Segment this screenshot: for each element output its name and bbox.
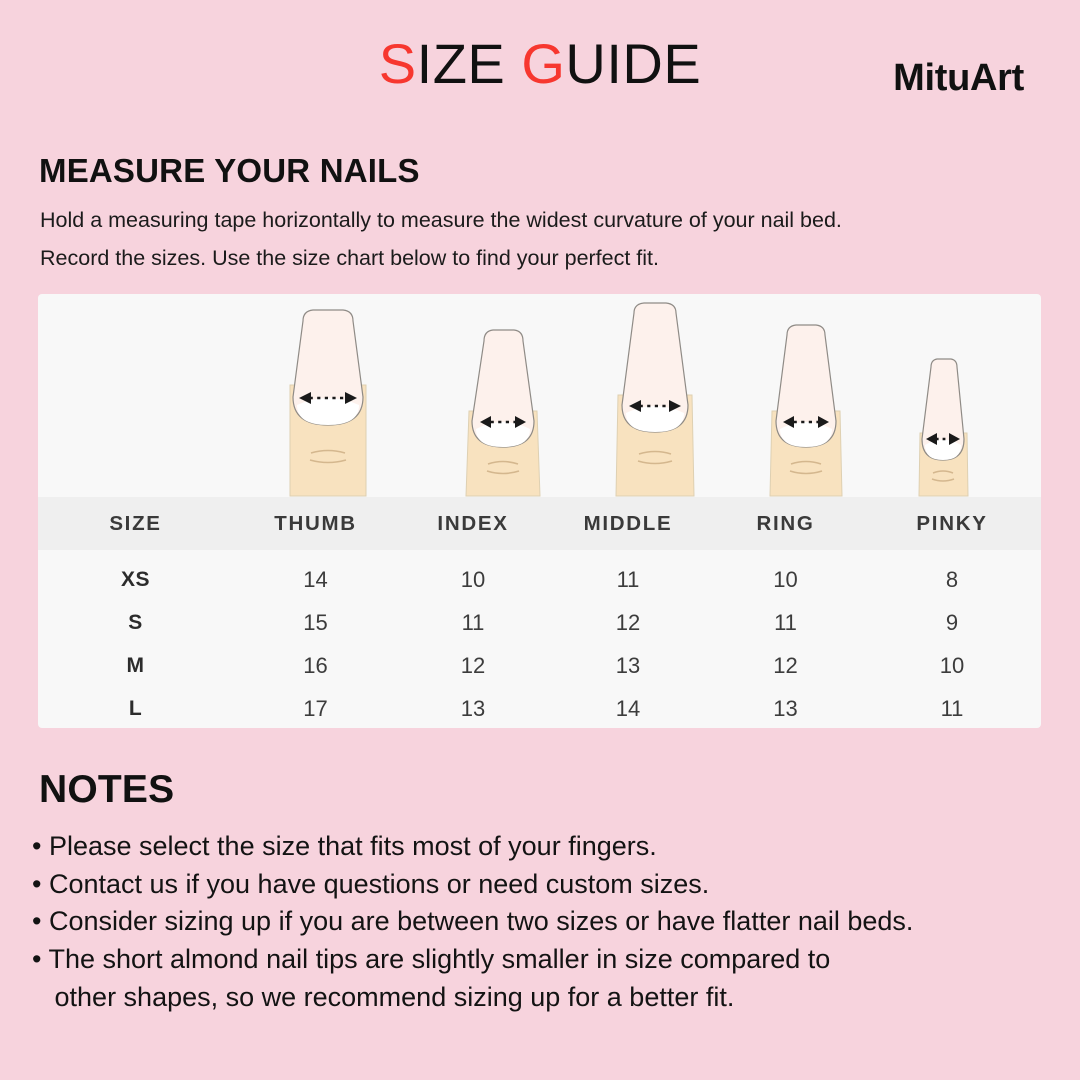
- instruction-line-1: Hold a measuring tape horizontally to me…: [40, 206, 1050, 234]
- cell-middle: 14: [548, 696, 708, 722]
- middle-finger-illustration: [585, 301, 725, 497]
- cell-ring: 13: [708, 696, 863, 722]
- cell-pinky: 9: [863, 610, 1041, 636]
- column-header-size: SIZE: [38, 512, 233, 536]
- title-text-uide: UIDE: [565, 32, 701, 95]
- cell-middle: 12: [548, 610, 708, 636]
- cell-index: 13: [398, 696, 548, 722]
- ring-finger-illustration: [741, 313, 871, 497]
- size-table-body: XS 14 10 11 10 8 S 15 11 12 11 9 M 16 12…: [38, 558, 1041, 728]
- measure-section-heading: MEASURE YOUR NAILS: [39, 152, 420, 190]
- title-accent-g: G: [521, 32, 565, 95]
- cell-pinky: 10: [863, 653, 1041, 679]
- cell-index: 12: [398, 653, 548, 679]
- column-header-index: INDEX: [398, 512, 548, 536]
- size-chart-panel: SIZE THUMB INDEX MIDDLE RING PINKY XS 14…: [38, 294, 1041, 728]
- list-item: • Please select the size that fits most …: [32, 828, 1062, 866]
- page-header: SIZE GUIDE MituArt: [0, 0, 1080, 125]
- column-header-pinky: PINKY: [863, 512, 1041, 536]
- table-row: XS 14 10 11 10 8: [38, 558, 1041, 601]
- cell-thumb: 17: [233, 696, 398, 722]
- thumb-finger-illustration: [253, 301, 403, 497]
- cell-thumb: 14: [233, 567, 398, 593]
- cell-middle: 11: [548, 567, 708, 593]
- instruction-line-2: Record the sizes. Use the size chart bel…: [40, 244, 1050, 272]
- list-item: • The short almond nail tips are slightl…: [32, 941, 1062, 1016]
- column-header-thumb: THUMB: [233, 512, 398, 536]
- cell-index: 10: [398, 567, 548, 593]
- index-finger-illustration: [438, 315, 568, 497]
- notes-section-heading: NOTES: [39, 768, 174, 812]
- table-row: M 16 12 13 12 10: [38, 644, 1041, 687]
- cell-index: 11: [398, 610, 548, 636]
- list-item: • Contact us if you have questions or ne…: [32, 866, 1062, 904]
- column-header-ring: RING: [708, 512, 863, 536]
- table-row: S 15 11 12 11 9: [38, 601, 1041, 644]
- cell-thumb: 16: [233, 653, 398, 679]
- title-accent-s: S: [379, 32, 417, 95]
- brand-logo: MituArt: [893, 57, 1024, 100]
- cell-size: XS: [38, 568, 233, 592]
- cell-middle: 13: [548, 653, 708, 679]
- cell-size: S: [38, 611, 233, 635]
- table-row: L 17 13 14 13 11: [38, 687, 1041, 728]
- cell-size: M: [38, 654, 233, 678]
- cell-ring: 12: [708, 653, 863, 679]
- cell-ring: 10: [708, 567, 863, 593]
- nail-diagram-row: [38, 294, 1041, 497]
- column-header-middle: MIDDLE: [548, 512, 708, 536]
- measure-instructions: Hold a measuring tape horizontally to me…: [40, 206, 1050, 283]
- pinky-finger-illustration: [890, 353, 995, 497]
- cell-pinky: 8: [863, 567, 1041, 593]
- title-text-ize: IZE: [417, 32, 522, 95]
- list-item: • Consider sizing up if you are between …: [32, 903, 1062, 941]
- cell-size: L: [38, 697, 233, 721]
- cell-pinky: 11: [863, 696, 1041, 722]
- size-table-header-row: SIZE THUMB INDEX MIDDLE RING PINKY: [38, 497, 1041, 550]
- cell-ring: 11: [708, 610, 863, 636]
- cell-thumb: 15: [233, 610, 398, 636]
- notes-list: • Please select the size that fits most …: [32, 828, 1062, 1016]
